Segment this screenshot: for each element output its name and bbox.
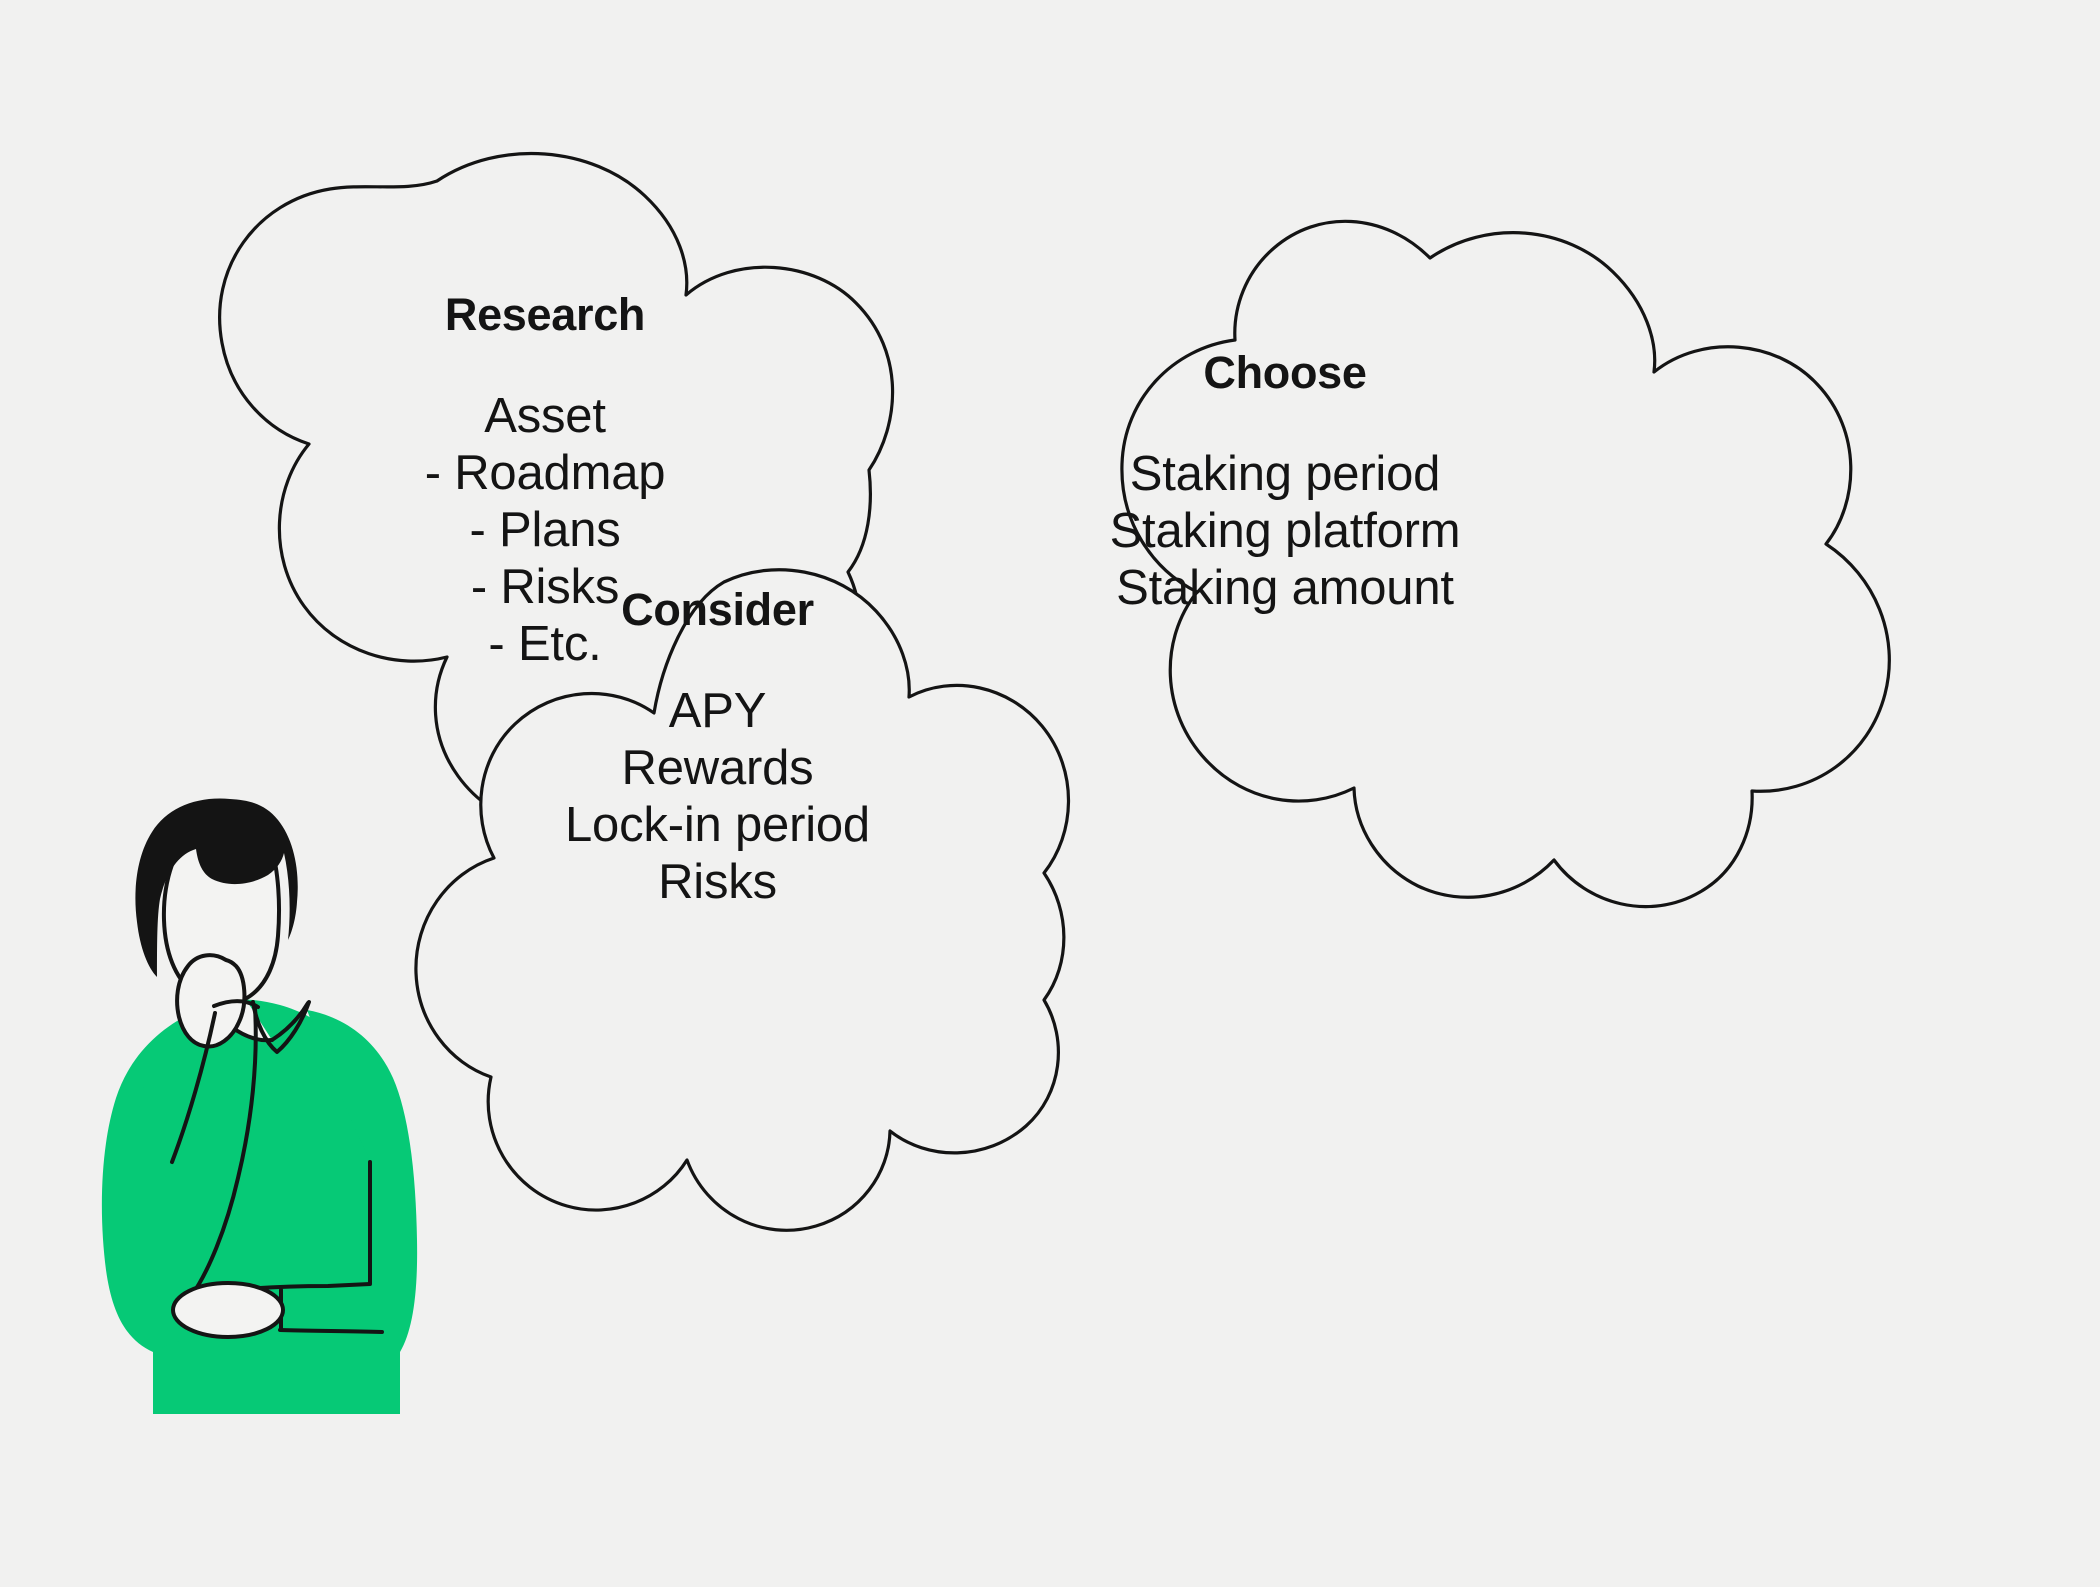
person-resting-hand [173,1283,283,1337]
thinking-person-illustration [0,0,2100,1587]
illustration-canvas: Research Asset - Roadmap - Plans - Risks… [0,0,2100,1587]
person-crossed-forearm-bottom [280,1330,382,1332]
